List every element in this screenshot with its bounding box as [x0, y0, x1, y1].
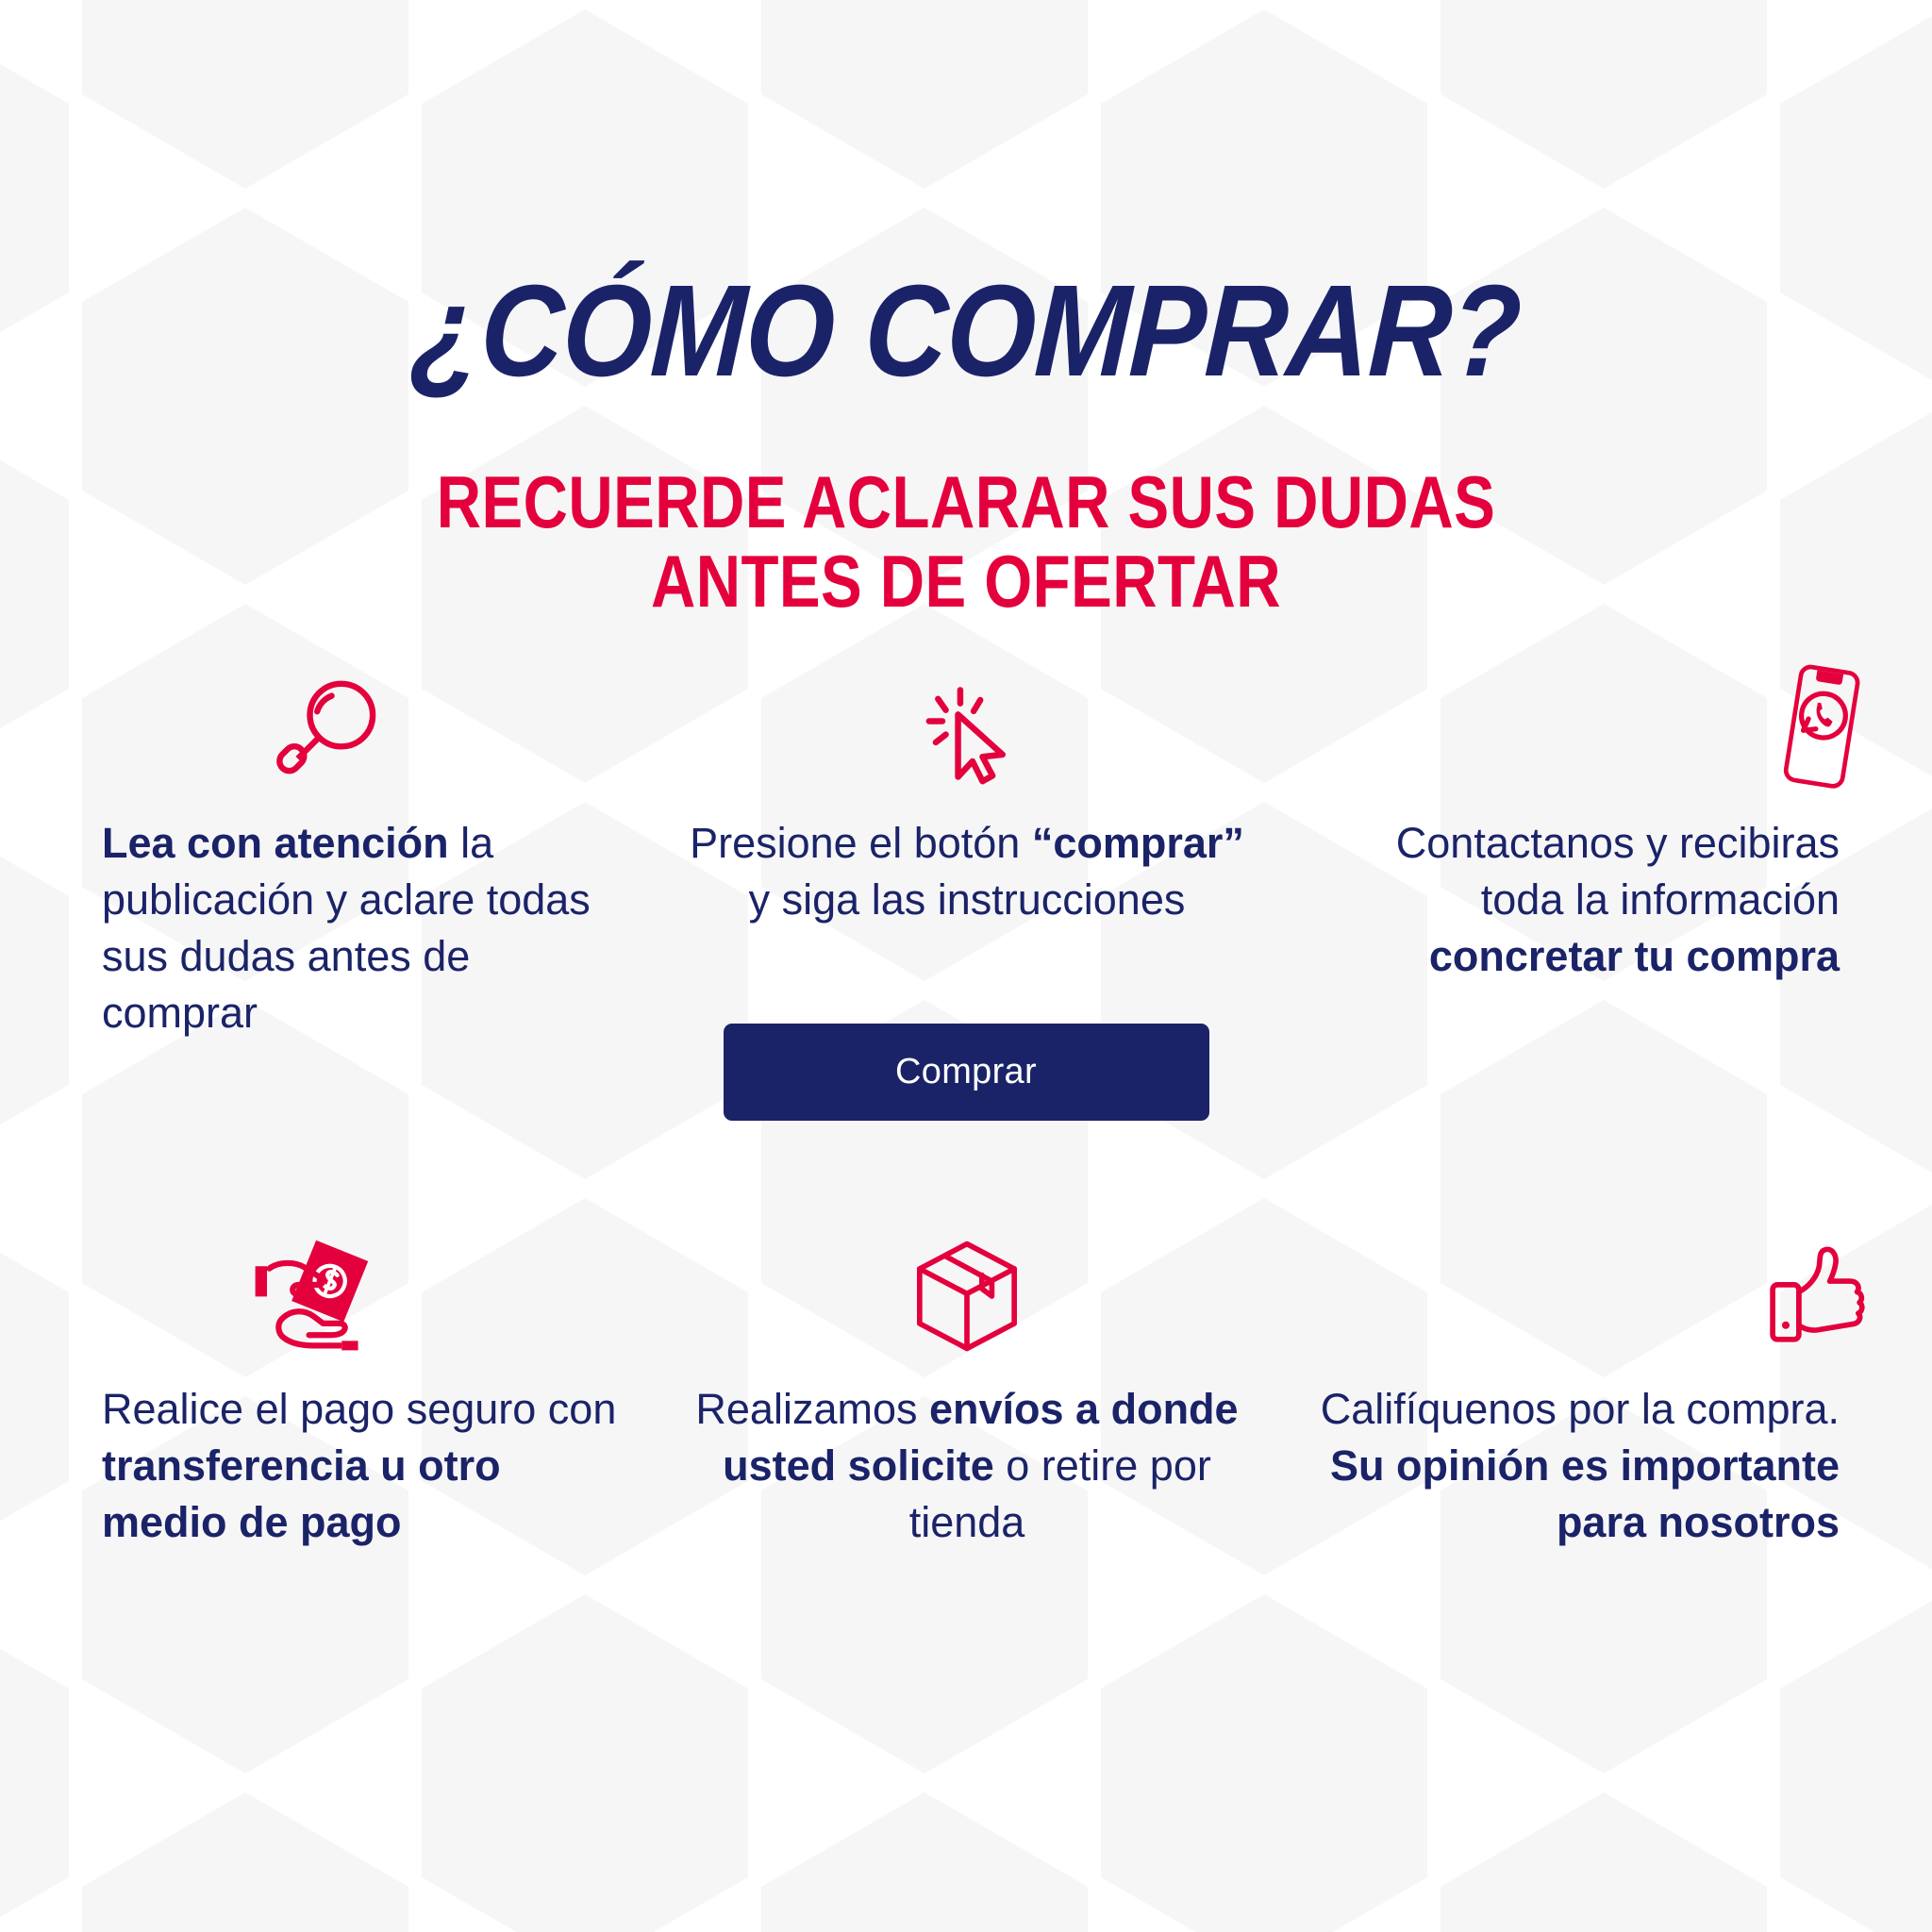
step-card-read-listing: Lea con atención la publicación y aclare…: [57, 651, 660, 1217]
page-title: ¿CÓMO COMPRAR?: [113, 266, 1820, 396]
step-card-payment: Realice el pago seguro con transferencia…: [57, 1217, 660, 1745]
step-card-rating: Califíquenos por la compra. Su opinión e…: [1274, 1217, 1877, 1745]
step-text-contact-us: Contactanos y recibiras toda la informac…: [1274, 815, 1877, 985]
step-text-rating: Califíquenos por la compra. Su opinión e…: [1274, 1381, 1877, 1551]
step-text-read-listing: Lea con atención la publicación y aclare…: [57, 815, 660, 1041]
cursor-click-icon-container: [665, 651, 1269, 792]
step-text-shipping: Realizamos envíos a donde usted solicite…: [665, 1381, 1269, 1551]
comprar-button-row: Comprar: [0, 1024, 1932, 1121]
step-text-press-buy: Presione el botón “comprar” y siga las i…: [665, 815, 1269, 928]
step-card-contact-us: Contactanos y recibiras toda la informac…: [1274, 651, 1877, 1217]
magnifier-icon: [269, 672, 390, 792]
page-title-wrapper: ¿CÓMO COMPRAR?: [0, 266, 1932, 396]
thumbs-up-icon-container: [1274, 1217, 1932, 1358]
steps-grid: Lea con atención la publicación y aclare…: [57, 651, 1877, 1745]
subtitle-line-2: ANTES DE OFERTAR: [155, 541, 1777, 621]
step-card-press-buy: Presione el botón “comprar” y siga las i…: [665, 651, 1269, 1217]
package-box-icon: [905, 1234, 1029, 1358]
step-text-payment: Realice el pago seguro con transferencia…: [57, 1381, 660, 1551]
package-box-icon-container: [665, 1217, 1269, 1358]
whatsapp-phone-icon: [1764, 660, 1877, 792]
comprar-button[interactable]: Comprar: [724, 1024, 1209, 1121]
cursor-click-icon: [911, 681, 1023, 792]
subtitle-line-1: RECUERDE ACLARAR SUS DUDAS: [155, 462, 1777, 541]
subtitle-wrapper: RECUERDE ACLARAR SUS DUDAS ANTES DE OFER…: [0, 462, 1932, 621]
step-card-shipping: Realizamos envíos a donde usted solicite…: [665, 1217, 1269, 1745]
thumbs-up-icon: [1758, 1240, 1877, 1358]
money-hand-icon: [245, 1236, 387, 1358]
whatsapp-phone-icon-container: [1274, 651, 1932, 792]
